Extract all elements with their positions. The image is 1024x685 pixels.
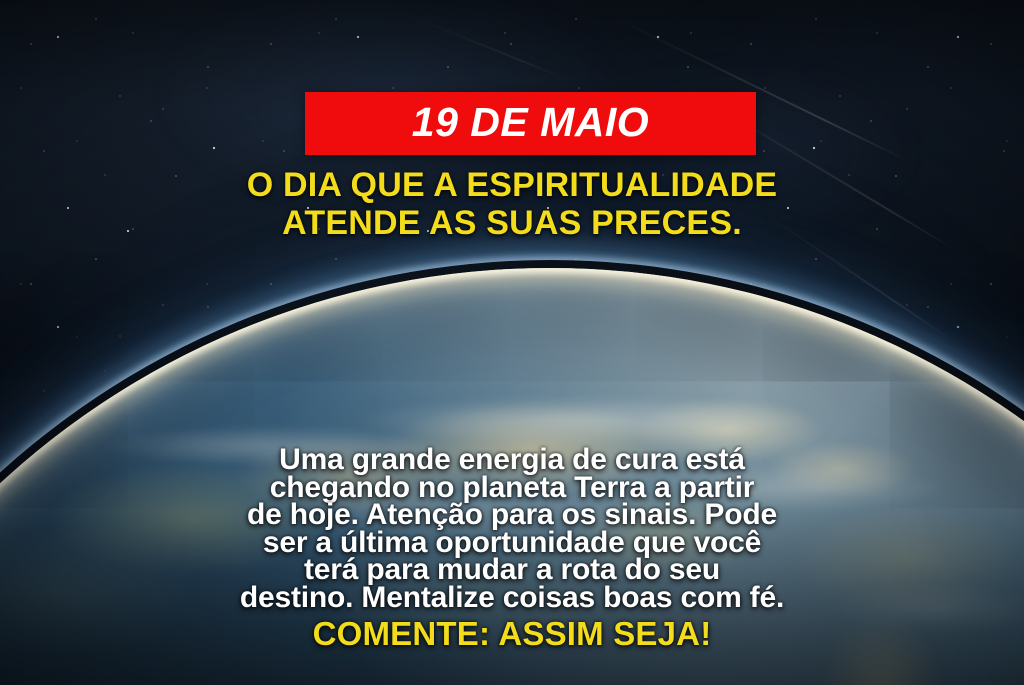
- headline: O DIA QUE A ESPIRITUALIDADE ATENDE AS SU…: [0, 166, 1024, 242]
- body-line-6: destino. Mentalize coisas boas com fé.: [0, 584, 1024, 612]
- headline-line-2: ATENDE AS SUAS PRECES.: [0, 204, 1024, 242]
- call-to-action-label: COMENTE: ASSIM SEJA!: [0, 616, 1024, 652]
- body-paragraph: Uma grande energia de cura está chegando…: [0, 446, 1024, 611]
- body-line-4: ser a última oportunidade que você: [0, 529, 1024, 557]
- date-banner: 19 DE MAIO: [305, 92, 756, 155]
- poster-canvas: 19 DE MAIO O DIA QUE A ESPIRITUALIDADE A…: [0, 0, 1024, 685]
- body-line-2: chegando no planeta Terra a partir: [0, 474, 1024, 502]
- headline-line-1: O DIA QUE A ESPIRITUALIDADE: [0, 166, 1024, 204]
- content-layer: 19 DE MAIO O DIA QUE A ESPIRITUALIDADE A…: [0, 0, 1024, 685]
- body-line-1: Uma grande energia de cura está: [0, 446, 1024, 474]
- body-line-3: de hoje. Atenção para os sinais. Pode: [0, 501, 1024, 529]
- body-line-5: terá para mudar a rota do seu: [0, 556, 1024, 584]
- date-banner-label: 19 DE MAIO: [412, 102, 649, 143]
